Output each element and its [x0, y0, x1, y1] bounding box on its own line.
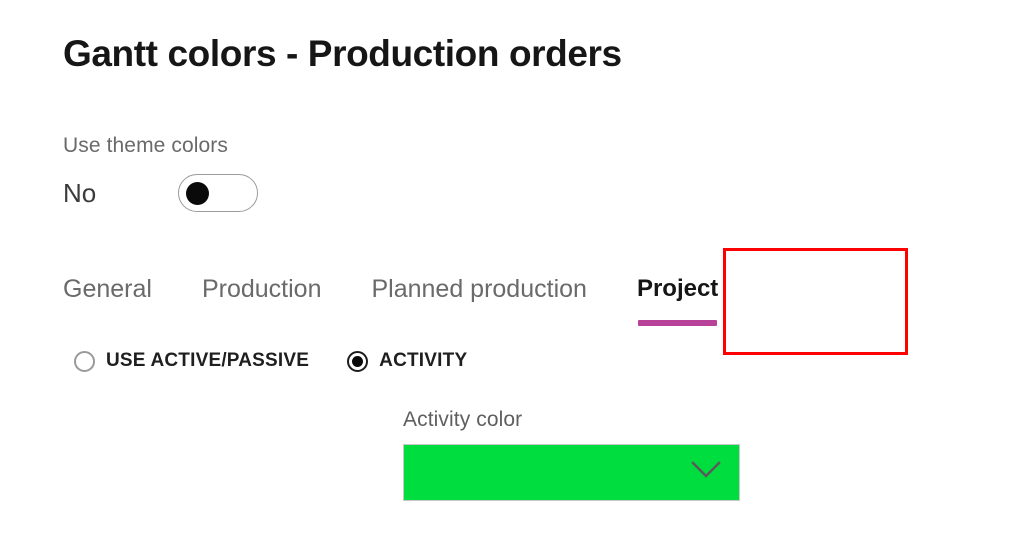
tab-general[interactable]: General	[63, 275, 152, 314]
activity-color-select[interactable]	[403, 444, 740, 501]
tab-label: Production	[202, 275, 322, 303]
radio-label: ACTIVITY	[379, 350, 467, 372]
radio-activity[interactable]: ACTIVITY	[347, 350, 467, 372]
radio-selected-icon	[347, 351, 368, 372]
use-theme-colors-value: No	[63, 180, 178, 206]
tab-bar: GeneralProductionPlanned productionProje…	[63, 275, 718, 314]
use-theme-colors-label: Use theme colors	[63, 134, 258, 158]
radio-dot	[79, 356, 90, 367]
tab-planned-production[interactable]: Planned production	[371, 275, 586, 314]
radio-label: USE ACTIVE/PASSIVE	[106, 350, 309, 372]
color-mode-radio-group: USE ACTIVE/PASSIVEACTIVITY	[74, 350, 467, 372]
use-theme-colors-field: Use theme colors No	[63, 134, 258, 212]
page-title: Gantt colors - Production orders	[63, 33, 622, 75]
tab-label: General	[63, 275, 152, 303]
activity-color-label: Activity color	[403, 408, 740, 432]
settings-page: Gantt colors - Production orders Use the…	[0, 0, 1024, 556]
toggle-knob	[186, 182, 209, 205]
tab-label: Planned production	[371, 275, 586, 303]
activity-color-field: Activity color	[403, 408, 740, 501]
radio-dot	[352, 356, 363, 367]
tab-production[interactable]: Production	[202, 275, 322, 314]
radio-use-active-passive[interactable]: USE ACTIVE/PASSIVE	[74, 350, 309, 372]
tab-label: Project	[637, 275, 718, 302]
annotation-rectangle	[723, 248, 908, 355]
radio-unselected-icon	[74, 351, 95, 372]
tab-active-underline	[638, 320, 717, 326]
use-theme-colors-row: No	[63, 174, 258, 212]
use-theme-colors-toggle[interactable]	[178, 174, 258, 212]
tab-project[interactable]: Project	[637, 275, 718, 313]
chevron-down-icon	[691, 461, 721, 484]
